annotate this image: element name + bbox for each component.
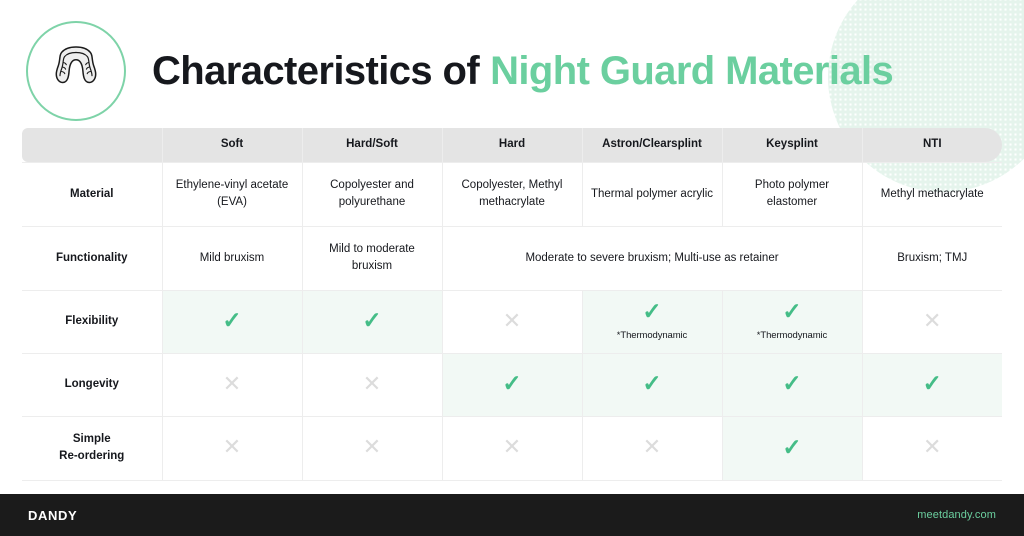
table-row-longevity: Longevity ✕ ✕ ✓ ✓ ✓ ✓ [22, 353, 1002, 416]
column-header-hard: Hard [442, 128, 582, 162]
cell-longevity-keysplint: ✓ [722, 353, 862, 416]
row-label-longevity: Longevity [22, 353, 162, 416]
cell-longevity-hardsoft: ✕ [302, 353, 442, 416]
check-icon: ✓ [502, 372, 521, 395]
cell-longevity-astron: ✓ [582, 353, 722, 416]
cell-reordering-hard: ✕ [442, 416, 582, 480]
cross-icon: ✕ [503, 310, 521, 332]
table-row-simple-reordering: Simple Re-ordering ✕ ✕ ✕ ✕ ✓ [22, 416, 1002, 480]
check-icon: ✓ [923, 372, 942, 395]
row-label-functionality: Functionality [22, 226, 162, 290]
cell-material-hard: Copolyester, Methyl methacrylate [442, 162, 582, 226]
check-icon: ✓ [782, 436, 801, 459]
column-header-soft: Soft [162, 128, 302, 162]
check-icon: ✓ [222, 309, 241, 332]
check-icon: ✓ [782, 300, 801, 323]
website-link[interactable]: meetdandy.com [917, 509, 996, 521]
cross-icon: ✕ [363, 436, 381, 458]
cell-longevity-nti: ✓ [862, 353, 1002, 416]
page-title: Characteristics of Night Guard Materials [152, 49, 893, 94]
column-header-astron: Astron/Clearsplint [582, 128, 722, 162]
row-label-flexibility: Flexibility [22, 290, 162, 353]
cell-reordering-soft: ✕ [162, 416, 302, 480]
cross-icon: ✕ [923, 310, 941, 332]
row-label-line2: Re-ordering [59, 450, 124, 462]
column-header-keysplint: Keysplint [722, 128, 862, 162]
cross-icon: ✕ [923, 436, 941, 458]
cell-flexibility-nti: ✕ [862, 290, 1002, 353]
page-title-part2: Night Guard Materials [490, 49, 893, 94]
cell-flexibility-astron: ✓ *Thermodynamic [582, 290, 722, 353]
column-header-nti: NTI [862, 128, 1002, 162]
logo-badge [26, 21, 126, 121]
cell-flexibility-hard: ✕ [442, 290, 582, 353]
page-footer: DANDY meetdandy.com [0, 494, 1024, 536]
check-icon: ✓ [642, 372, 661, 395]
cell-flexibility-keysplint: ✓ *Thermodynamic [722, 290, 862, 353]
row-label-simple-reordering: Simple Re-ordering [22, 416, 162, 480]
cell-material-nti: Methyl methacrylate [862, 162, 1002, 226]
cell-reordering-keysplint: ✓ [722, 416, 862, 480]
cell-functionality-nti: Bruxism; TMJ [862, 226, 1002, 290]
brand-wordmark: DANDY [28, 508, 77, 523]
check-icon: ✓ [642, 300, 661, 323]
cell-reordering-nti: ✕ [862, 416, 1002, 480]
cell-reordering-hardsoft: ✕ [302, 416, 442, 480]
cell-material-soft: Ethylene-vinyl acetate (EVA) [162, 162, 302, 226]
cell-material-hardsoft: Copolyester and polyurethane [302, 162, 442, 226]
check-icon: ✓ [782, 372, 801, 395]
table-row-functionality: Functionality Mild bruxism Mild to moder… [22, 226, 1002, 290]
column-header-hardsoft: Hard/Soft [302, 128, 442, 162]
cell-reordering-astron: ✕ [582, 416, 722, 480]
column-header-blank [22, 128, 162, 162]
comparison-table-wrapper: Soft Hard/Soft Hard Astron/Clearsplint K… [22, 128, 1002, 481]
cross-icon: ✕ [503, 436, 521, 458]
cell-functionality-soft: Mild bruxism [162, 226, 302, 290]
cell-functionality-merged: Moderate to severe bruxism; Multi-use as… [442, 226, 862, 290]
cross-icon: ✕ [363, 373, 381, 395]
cell-flexibility-hardsoft: ✓ [302, 290, 442, 353]
cell-note-thermodynamic: *Thermodynamic [729, 329, 856, 343]
table-header-row: Soft Hard/Soft Hard Astron/Clearsplint K… [22, 128, 1002, 162]
night-guard-materials-table: Soft Hard/Soft Hard Astron/Clearsplint K… [22, 128, 1002, 481]
cross-icon: ✕ [643, 436, 661, 458]
cell-material-keysplint: Photo polymer elastomer [722, 162, 862, 226]
cell-note-thermodynamic: *Thermodynamic [589, 329, 716, 343]
cell-longevity-soft: ✕ [162, 353, 302, 416]
table-row-flexibility: Flexibility ✓ ✓ ✕ ✓ *Thermodynamic ✓ *Th… [22, 290, 1002, 353]
row-label-material: Material [22, 162, 162, 226]
check-icon: ✓ [362, 309, 381, 332]
table-row-material: Material Ethylene-vinyl acetate (EVA) Co… [22, 162, 1002, 226]
cell-flexibility-soft: ✓ [162, 290, 302, 353]
table-header: Soft Hard/Soft Hard Astron/Clearsplint K… [22, 128, 1002, 162]
cross-icon: ✕ [223, 373, 241, 395]
table-body: Material Ethylene-vinyl acetate (EVA) Co… [22, 162, 1002, 480]
row-label-line1: Simple [73, 433, 111, 445]
page-header: Characteristics of Night Guard Materials [0, 0, 1024, 120]
cell-longevity-hard: ✓ [442, 353, 582, 416]
page-title-part1: Characteristics of [152, 49, 479, 94]
cell-functionality-hardsoft: Mild to moderate bruxism [302, 226, 442, 290]
cross-icon: ✕ [223, 436, 241, 458]
cell-material-astron: Thermal polymer acrylic [582, 162, 722, 226]
night-guard-dental-arch-icon [47, 40, 105, 103]
